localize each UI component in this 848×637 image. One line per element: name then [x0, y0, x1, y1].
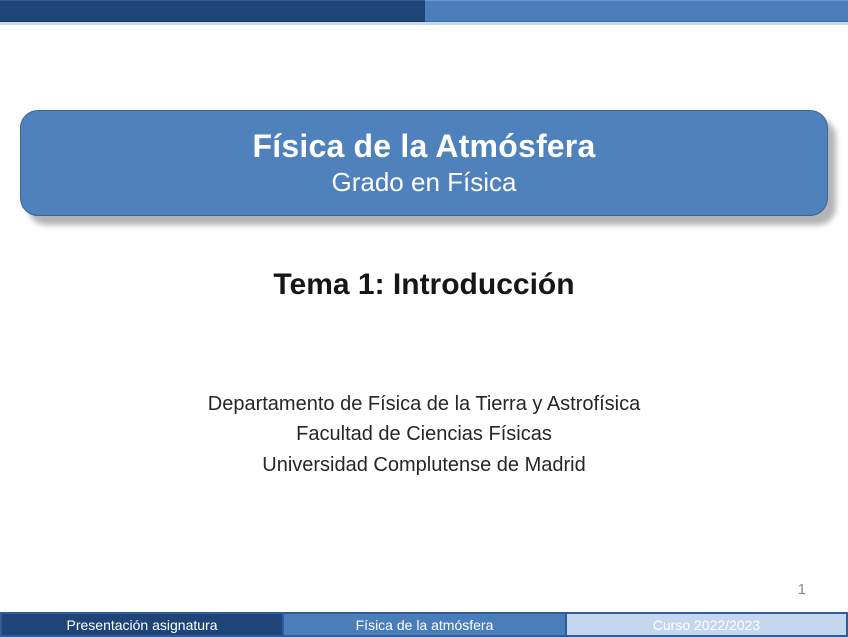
- title-banner: Física de la Atmósfera Grado en Física: [20, 110, 828, 216]
- footer-bar: Presentación asignatura Física de la atm…: [0, 612, 848, 637]
- presentation-slide: Física de la Atmósfera Grado en Física T…: [0, 0, 848, 637]
- footer-segment-course[interactable]: Física de la atmósfera: [282, 612, 565, 637]
- affiliation-block: Departamento de Física de la Tierra y As…: [0, 389, 848, 480]
- affiliation-line-faculty: Facultad de Ciencias Físicas: [0, 419, 848, 449]
- top-bar-dark-segment: [0, 0, 425, 22]
- affiliation-line-department: Departamento de Física de la Tierra y As…: [0, 389, 848, 419]
- title-banner-body: Física de la Atmósfera Grado en Física: [20, 110, 828, 216]
- footer-segment-academic-year[interactable]: Curso 2022/2023: [565, 612, 848, 637]
- page-number: 1: [798, 581, 806, 598]
- footer-segment-section[interactable]: Presentación asignatura: [0, 612, 282, 637]
- top-bar-light-segment: [425, 0, 848, 22]
- top-bar-underline: [0, 22, 848, 25]
- affiliation-line-university: Universidad Complutense de Madrid: [0, 450, 848, 480]
- degree-subtitle: Grado en Física: [332, 167, 517, 198]
- topic-heading: Tema 1: Introducción: [0, 268, 848, 302]
- top-decorative-bar: [0, 0, 848, 22]
- course-title: Física de la Atmósfera: [253, 129, 596, 165]
